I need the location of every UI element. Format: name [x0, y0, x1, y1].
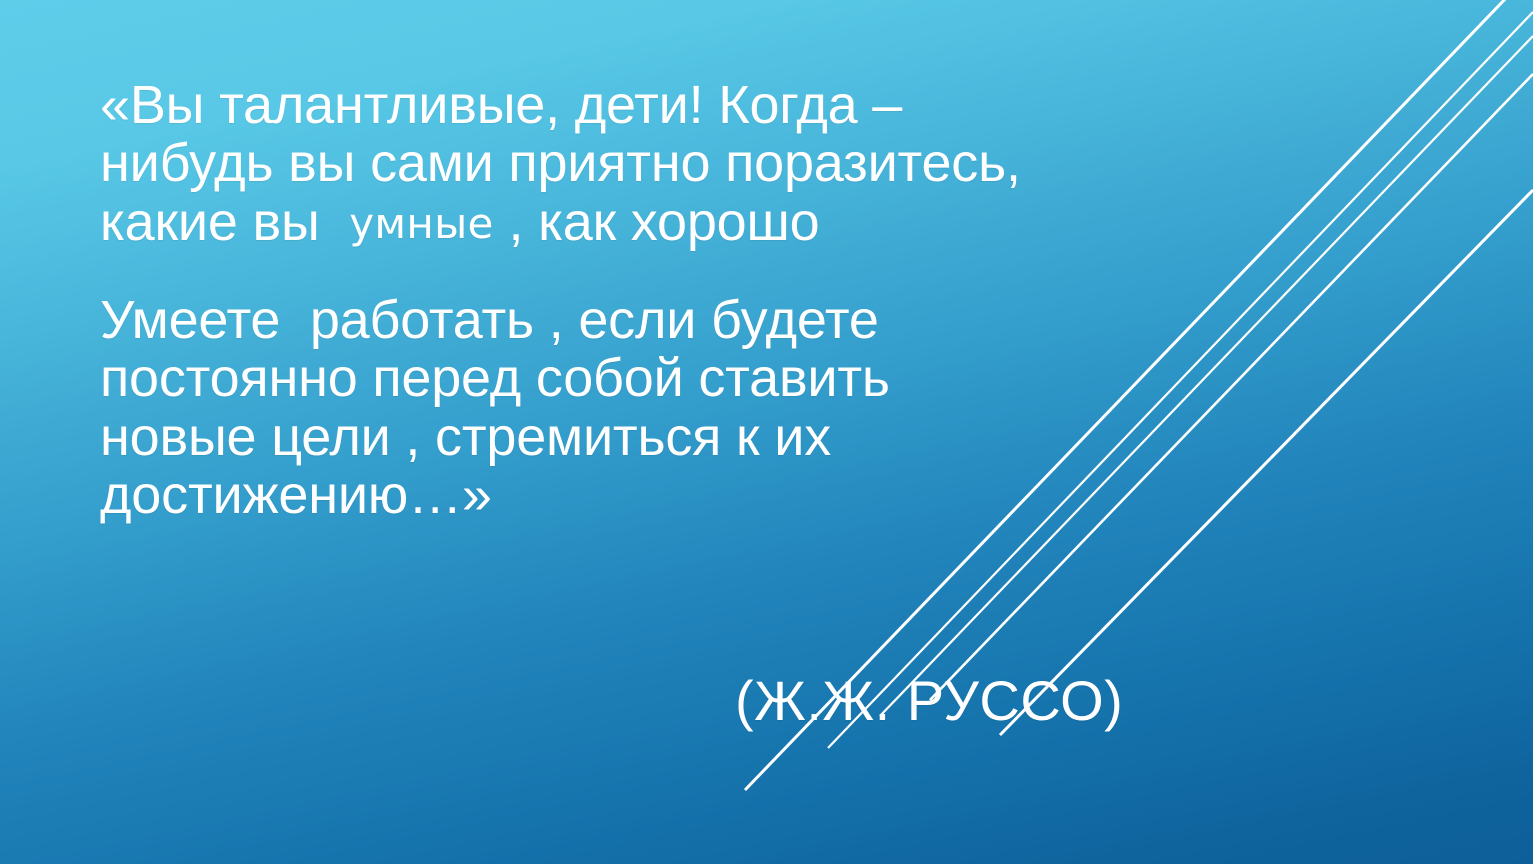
quote-attribution: (Ж.Ж. РУССО) [735, 672, 1123, 731]
quote-line-7: достижению…» [100, 466, 1230, 524]
quote-line-6: новые цели , стремиться к их [100, 408, 1230, 466]
quote-line-4: Умеете работать , если будете [100, 291, 1230, 349]
quote-line-5: постоянно перед собой ставить [100, 349, 1230, 407]
quote-line-2: нибудь вы сами приятно поразитесь, [100, 134, 1230, 192]
quote-text-block: «Вы талантливые, дети! Когда – нибудь вы… [100, 76, 1230, 524]
quote-slide: «Вы талантливые, дети! Когда – нибудь вы… [0, 0, 1533, 864]
quote-paragraph-2: Умеете работать , если будете постоянно … [100, 291, 1230, 524]
quote-paragraph-1: «Вы талантливые, дети! Когда – нибудь вы… [100, 76, 1230, 251]
quote-line-3-tail: , как хорошо [509, 192, 820, 252]
quote-emphasis-word: умные [349, 199, 494, 248]
quote-line-3-head: какие вы [100, 192, 320, 252]
quote-line-3: какие вы умные , как хорошо [100, 193, 1230, 251]
quote-line-1: «Вы талантливые, дети! Когда – [100, 76, 1230, 134]
